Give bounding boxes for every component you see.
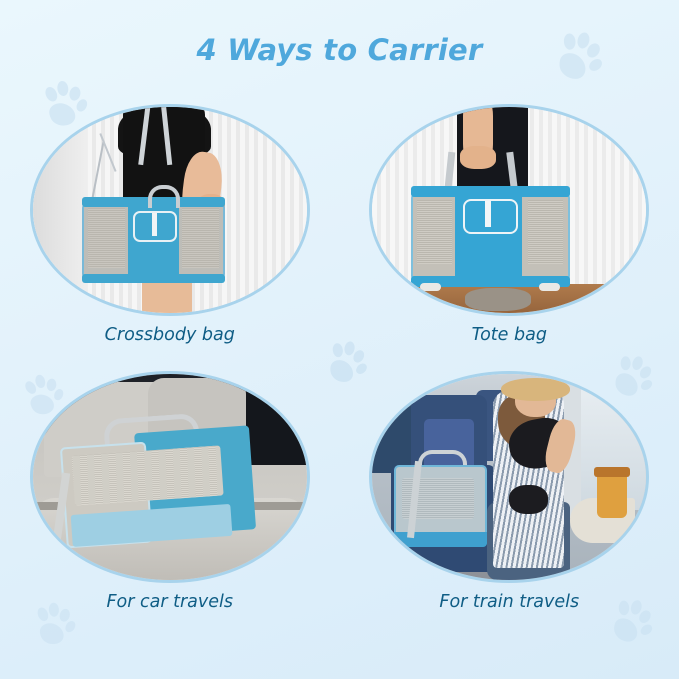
card-caption-tote: Tote bag	[472, 325, 547, 345]
grid-row-bottom: For car travels	[0, 371, 679, 612]
card-car-travels: For car travels	[0, 371, 340, 612]
carrier-top-handle	[148, 185, 180, 208]
dog-lower-body	[509, 485, 547, 514]
card-caption-train: For train travels	[439, 592, 579, 612]
person-hand-gripping-handle	[460, 146, 496, 169]
carrier-mesh-right	[528, 200, 563, 264]
person-shoe	[465, 288, 531, 311]
wall-left	[33, 107, 88, 313]
carrier-mesh-left	[417, 200, 452, 264]
oval-photo-tote	[369, 104, 649, 316]
photo-frame-tote	[369, 104, 649, 316]
card-tote-bag: Tote bag	[340, 104, 679, 345]
carrier-clip	[152, 213, 157, 235]
card-train-travels: For train travels	[340, 371, 679, 612]
carrier-clip	[485, 201, 491, 227]
carrier-mesh-left	[88, 208, 125, 267]
scene-car	[33, 374, 307, 580]
woman-straw-hat	[501, 378, 570, 401]
scene-train	[372, 374, 646, 580]
oval-photo-train	[369, 371, 649, 583]
carrier-side-mesh	[72, 445, 224, 505]
carrier-ways-grid: Crossbody bag	[0, 104, 679, 612]
grid-row-top: Crossbody bag	[0, 104, 679, 345]
coffee-cup-lid	[594, 467, 630, 477]
pet-carrier-train	[394, 465, 487, 547]
card-caption-crossbody: Crossbody bag	[105, 325, 235, 345]
card-caption-car: For car travels	[106, 592, 233, 612]
carrier-mesh-right	[182, 208, 219, 267]
oval-photo-car	[30, 371, 310, 583]
photo-frame-crossbody	[30, 104, 310, 316]
coffee-cup	[597, 473, 627, 518]
page-title: 4 Ways to Carrier	[0, 33, 679, 67]
photo-frame-train	[369, 371, 649, 583]
pet-carrier-car	[59, 425, 253, 551]
carrier-foot-right	[539, 283, 560, 291]
scene-tote	[372, 107, 646, 313]
card-crossbody-bag: Crossbody bag	[0, 104, 340, 345]
photo-frame-car	[30, 371, 310, 583]
pet-carrier-tote	[411, 194, 570, 281]
oval-photo-crossbody	[30, 104, 310, 316]
carrier-foot-left	[420, 283, 441, 291]
carrier-bottom-trim	[82, 274, 224, 283]
carrier-top-trim	[411, 186, 570, 197]
scene-crossbody	[33, 107, 307, 313]
pet-carrier-crossbody	[82, 204, 224, 278]
